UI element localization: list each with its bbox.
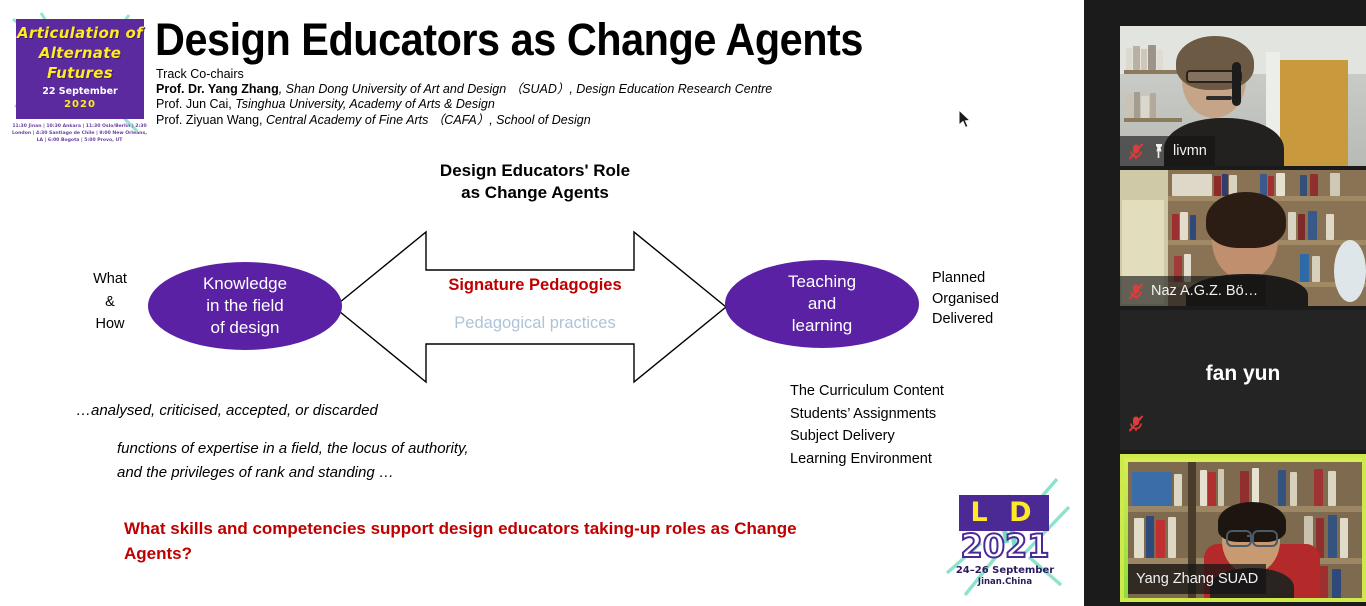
logo-year: 2020 — [16, 99, 144, 110]
lxd-2021-logo: L D 2021 24–26 September Jinan.China — [945, 487, 1065, 599]
mic-off-icon — [1128, 143, 1144, 160]
logo-city-list: 11:30 Jinan | 10:30 Ankara | 11:30 Oslo/… — [11, 123, 148, 145]
signature-pedagogies-label: Signature Pedagogies — [400, 276, 670, 295]
diagram-heading: Design Educators' Role as Change Agents — [355, 160, 715, 204]
cochairs-label: Track Co-chairs — [156, 67, 856, 82]
double-headed-arrow — [330, 222, 730, 392]
cochair-2: Prof. Jun Cai, Tsinghua University, Acad… — [156, 97, 856, 112]
participant-namebar-yang-zhang: Yang Zhang SUAD — [1128, 564, 1266, 594]
participant-name: Yang Zhang SUAD — [1136, 571, 1258, 587]
participant-tile-livmn[interactable]: livmn — [1120, 26, 1366, 166]
conference-logo: Articulation of Alternate Futures 22 Sep… — [11, 11, 148, 159]
participant-name: Naz A.G.Z. Bö… — [1151, 283, 1258, 299]
logo-date: 22 September — [16, 86, 144, 97]
participant-tile-naz[interactable]: Naz A.G.Z. Bö… — [1120, 170, 1366, 306]
lxd-dates: 24–26 September — [945, 565, 1065, 576]
cochair-1: Prof. Dr. Yang Zhang, Shan Dong Universi… — [156, 82, 856, 97]
quote-line-2: functions of expertise in a field, the l… — [117, 437, 469, 485]
pedagogical-practices-label: Pedagogical practices — [400, 314, 670, 333]
cochair-3: Prof. Ziyuan Wang, Central Academy of Fi… — [156, 113, 856, 128]
video-participants-panel: livmn — [1084, 0, 1366, 606]
what-and-how-label: What&How — [78, 268, 142, 336]
knowledge-ellipse: Knowledgein the fieldof design — [148, 262, 342, 350]
slide-title: Design Educators as Change Agents — [155, 16, 863, 63]
mic-off-icon — [1128, 283, 1144, 300]
presentation-slide[interactable]: Articulation of Alternate Futures 22 Sep… — [0, 0, 1084, 606]
logo-line-1: Articulation of — [16, 24, 144, 42]
track-cochairs-block: Track Co-chairs Prof. Dr. Yang Zhang, Sh… — [156, 67, 856, 128]
mic-off-icon — [1128, 415, 1144, 432]
logo-line-2: Alternate — [16, 44, 144, 62]
knowledge-ellipse-text: Knowledgein the fieldof design — [203, 273, 287, 339]
participant-name: livmn — [1173, 143, 1207, 159]
participant-tile-yang-zhang[interactable]: Yang Zhang SUAD — [1120, 454, 1366, 602]
quote-line-1: …analysed, criticised, accepted, or disc… — [76, 402, 378, 419]
lxd-letters: L D — [959, 495, 1049, 531]
participant-name: fan yun — [1120, 362, 1366, 386]
participant-tile-fan-yun[interactable]: fan yun — [1120, 310, 1366, 450]
pin-icon[interactable] — [1151, 143, 1166, 159]
curriculum-list: The Curriculum Content Students’ Assignm… — [790, 380, 944, 470]
closing-question: What skills and competencies support des… — [124, 516, 804, 566]
diagram-heading-line1: Design Educators' Role — [355, 160, 715, 182]
participant-namebar-naz: Naz A.G.Z. Bö… — [1120, 276, 1266, 306]
teaching-learning-ellipse-text: Teachingandlearning — [788, 271, 856, 337]
lxd-year: 2021 — [953, 529, 1057, 563]
lxd-place: Jinan.China — [945, 577, 1065, 587]
planned-organised-delivered-list: PlannedOrganisedDelivered — [932, 268, 999, 330]
mouse-pointer-icon — [958, 109, 972, 129]
diagram-heading-line2: as Change Agents — [355, 182, 715, 204]
participant-namebar-livmn: livmn — [1120, 136, 1215, 166]
teaching-learning-ellipse: Teachingandlearning — [725, 260, 919, 348]
arrow-shape — [330, 222, 730, 392]
logo-line-3: Futures — [16, 64, 144, 82]
screen: Articulation of Alternate Futures 22 Sep… — [0, 0, 1366, 606]
